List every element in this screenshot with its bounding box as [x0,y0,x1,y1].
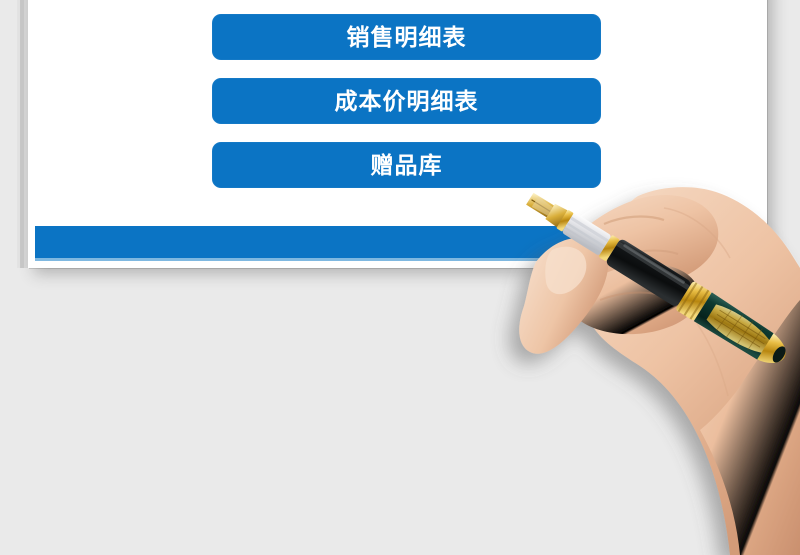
menu-button-sales-detail-label: 销售明细表 [347,26,467,49]
footer-accent-underline [35,258,761,261]
menu-button-sales-detail[interactable]: 销售明细表 [212,14,601,60]
menu-button-cost-price-detail[interactable]: 成本价明细表 [212,78,601,124]
menu-button-cost-price-detail-label: 成本价明细表 [335,90,479,113]
footer-accent-band [35,226,761,258]
menu-button-list: 销售明细表 成本价明细表 赠品库 [212,14,601,188]
menu-button-gift-inventory-label: 赠品库 [371,154,443,177]
menu-button-gift-inventory[interactable]: 赠品库 [212,142,601,188]
screenshot-stage: 销售明细表 成本价明细表 赠品库 [0,0,800,555]
